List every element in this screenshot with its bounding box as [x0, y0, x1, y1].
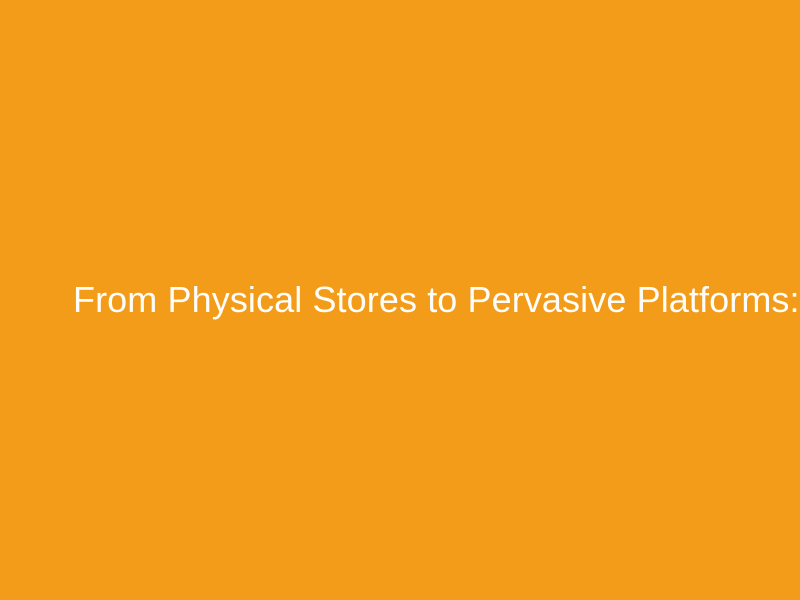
page-title: From Physical Stores to Pervasive Platfo… [73, 278, 800, 322]
share-card: From Physical Stores to Pervasive Platfo… [0, 0, 800, 600]
